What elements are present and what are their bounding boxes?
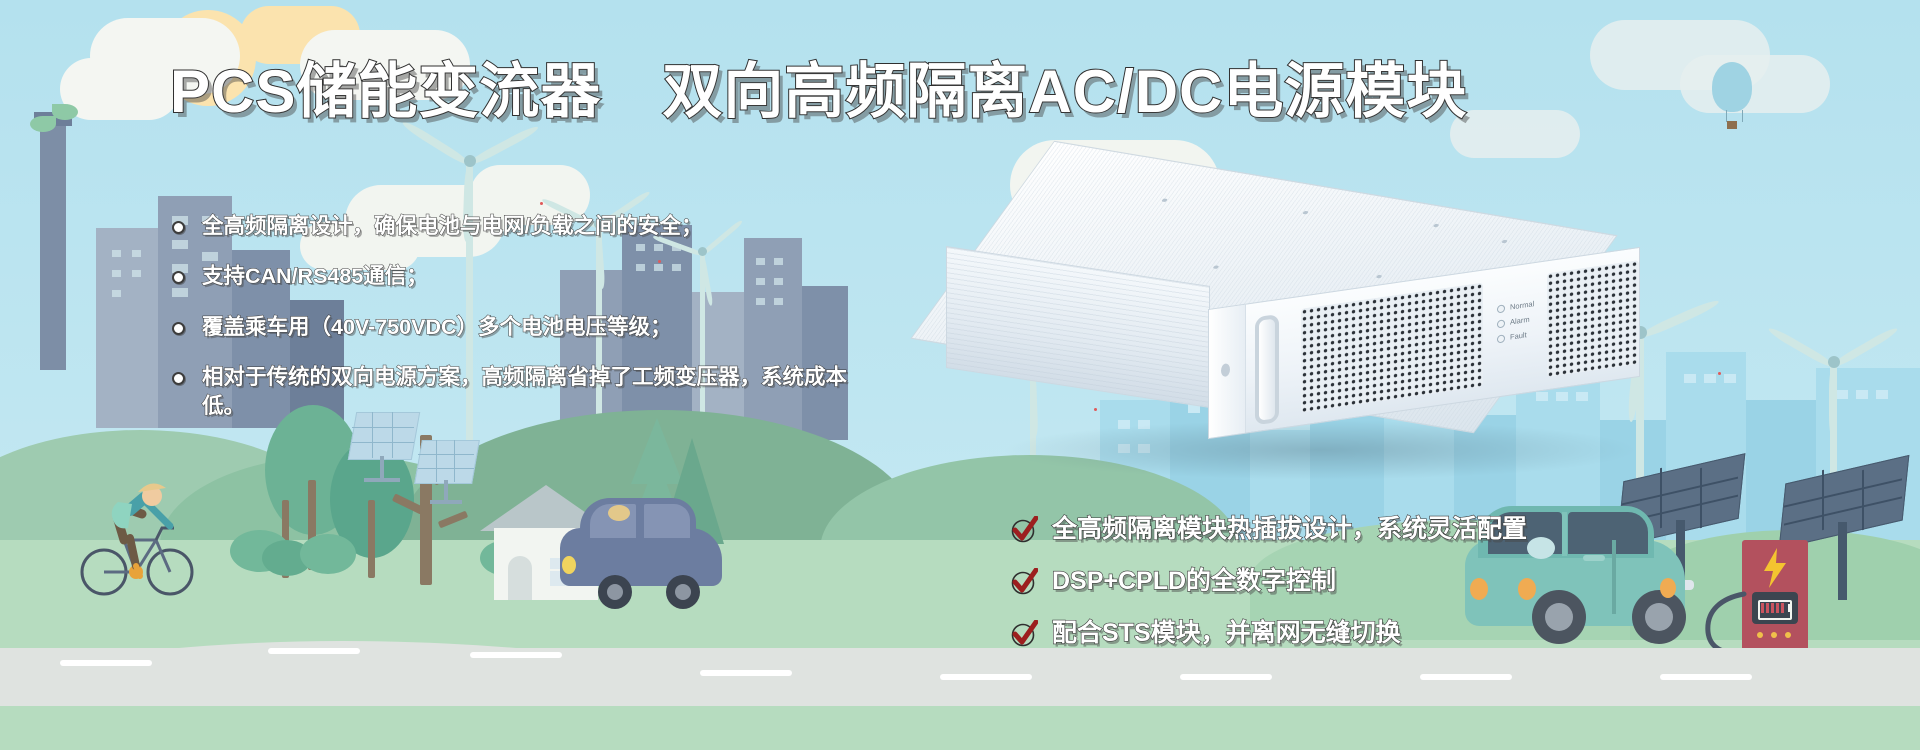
feature-text: 支持CAN/RS485通信； xyxy=(202,262,428,290)
led-fault-icon xyxy=(1497,334,1505,343)
highlight-text: 全高频隔离模块热插拔设计，系统灵活配置 xyxy=(1052,516,1527,544)
road-dash xyxy=(1660,674,1752,680)
product-banner: Normal Alarm Fault PCS储能变流器 双向高频隔离AC/DC电… xyxy=(0,0,1920,750)
led-indicator-group: Normal Alarm Fault xyxy=(1497,299,1534,349)
cloud-decor xyxy=(1450,110,1580,158)
highlight-item: 全高频隔离模块热插拔设计，系统灵活配置 xyxy=(1010,516,1527,544)
led-label-alarm: Alarm xyxy=(1510,315,1530,327)
cloud-decor xyxy=(1680,55,1830,113)
bullet-dot-icon xyxy=(172,271,185,284)
led-normal-icon xyxy=(1497,304,1505,313)
road-dash xyxy=(1420,674,1512,680)
ground-strip-decor xyxy=(0,706,1920,750)
led-row-fault: Fault xyxy=(1497,329,1534,343)
feature-item: 覆盖乘车用（40V-750VDC）多个电池电压等级； xyxy=(172,313,962,341)
product-handle xyxy=(1255,314,1279,425)
led-row-normal: Normal xyxy=(1497,299,1534,313)
feature-item: 全高频隔离设计，确保电池与电网/负载之间的安全； xyxy=(172,212,962,240)
ventilation-mesh xyxy=(1301,282,1483,412)
road-dash xyxy=(268,648,360,654)
highlight-text: DSP+CPLD的全数字控制 xyxy=(1052,568,1336,596)
road-dash xyxy=(1180,674,1272,680)
check-mark-icon xyxy=(1010,516,1038,544)
cloud-decor xyxy=(60,58,180,120)
product-image: Normal Alarm Fault xyxy=(940,170,1700,500)
road-dash xyxy=(60,660,152,666)
bullet-dot-icon xyxy=(172,372,185,385)
feature-text: 覆盖乘车用（40V-750VDC）多个电池电压等级； xyxy=(202,313,672,341)
led-label-fault: Fault xyxy=(1510,330,1527,341)
feature-item: 相对于传统的双向电源方案，高频隔离省掉了工频变压器，系统成本低。 xyxy=(172,363,872,420)
feature-text: 全高频隔离设计，确保电池与电网/负载之间的安全； xyxy=(202,212,702,240)
product-shadow xyxy=(1000,420,1640,480)
feature-item: 支持CAN/RS485通信； xyxy=(172,262,962,290)
highlight-list: 全高频隔离模块热插拔设计，系统灵活配置 DSP+CPLD的全数字控制 配合STS… xyxy=(1010,516,1527,672)
road-dash xyxy=(940,674,1032,680)
road-curve-decor xyxy=(0,596,1920,716)
feature-text: 相对于传统的双向电源方案，高频隔离省掉了工频变压器，系统成本低。 xyxy=(202,363,872,420)
check-mark-icon xyxy=(1010,568,1038,596)
feature-list: 全高频隔离设计，确保电池与电网/负载之间的安全； 支持CAN/RS485通信； … xyxy=(172,212,962,442)
highlight-item: 配合STS模块，并离网无缝切换 xyxy=(1010,620,1527,648)
road-dash xyxy=(470,652,562,658)
led-alarm-icon xyxy=(1497,319,1505,328)
check-mark-icon xyxy=(1010,620,1038,648)
rack-ear xyxy=(1209,305,1246,438)
ventilation-mesh xyxy=(1547,260,1639,377)
bullet-dot-icon xyxy=(172,322,185,335)
highlight-item: DSP+CPLD的全数字控制 xyxy=(1010,568,1527,596)
lightning-bolt-icon xyxy=(1762,548,1788,593)
page-title: PCS储能变流器 双向高频隔离AC/DC电源模块 xyxy=(170,62,1467,122)
led-row-alarm: Alarm xyxy=(1497,314,1534,328)
rack-screw-hole xyxy=(1221,363,1230,377)
bullet-dot-icon xyxy=(172,221,185,234)
road-dash xyxy=(700,670,792,676)
led-label-normal: Normal xyxy=(1510,299,1534,311)
highlight-text: 配合STS模块，并离网无缝切换 xyxy=(1052,620,1401,648)
